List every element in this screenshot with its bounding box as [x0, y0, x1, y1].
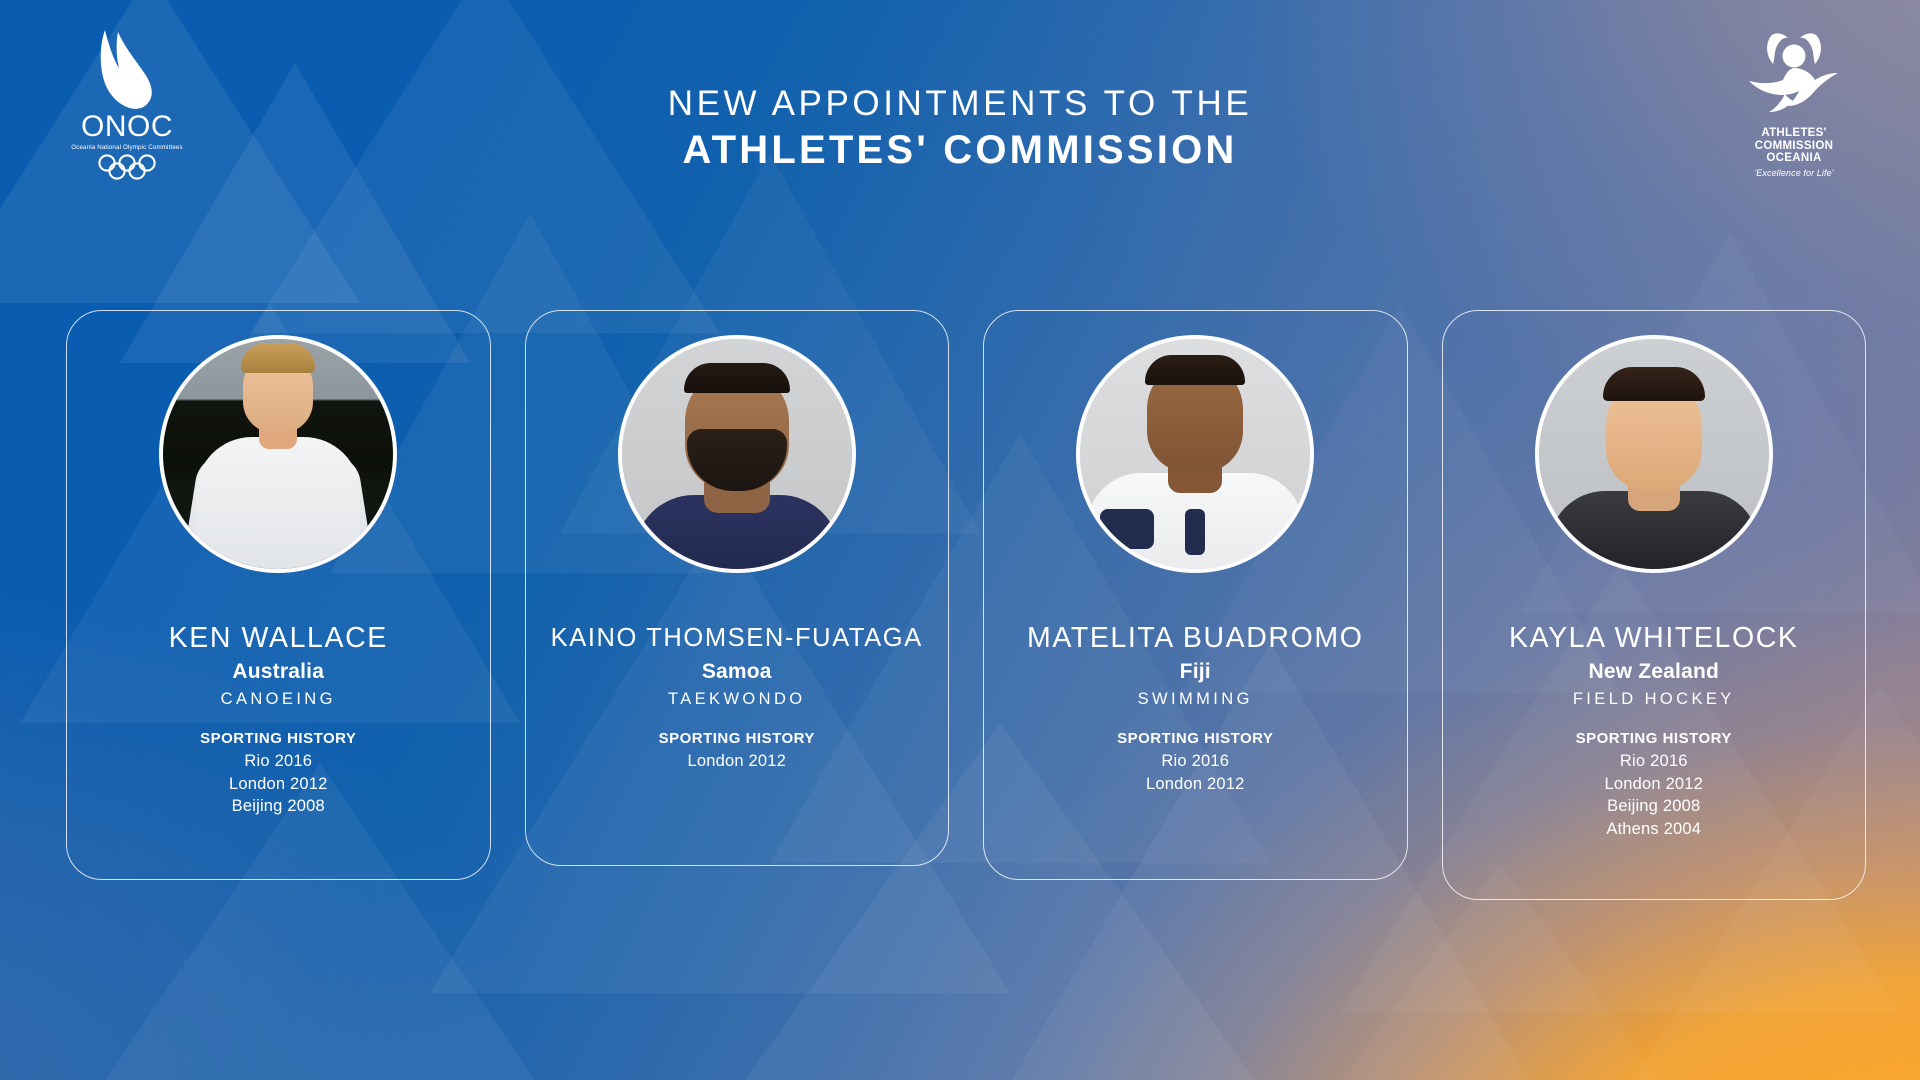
sporting-history-list: Rio 2016London 2012 [1146, 750, 1245, 795]
title-line-2: ATHLETES' COMMISSION [0, 126, 1920, 174]
athlete-card[interactable]: MATELITA BUADROMOFijiSWIMMINGSPORTING HI… [983, 310, 1408, 880]
poster-canvas: ONOC Oceania National Olympic Committees… [0, 0, 1920, 1080]
athlete-card[interactable]: KAINO THOMSEN-FUATAGASamoaTAEKWONDOSPORT… [525, 310, 950, 866]
athlete-card[interactable]: KEN WALLACEAustraliaCANOEINGSPORTING HIS… [66, 310, 491, 880]
athlete-name: KAYLA WHITELOCK [1509, 622, 1799, 654]
sporting-history-item: Rio 2016 [1604, 750, 1703, 773]
portrait-ken-wallace [159, 335, 397, 573]
sporting-history-item: London 2012 [1604, 773, 1703, 796]
athlete-country: Fiji [1180, 660, 1211, 684]
athlete-sport: FIELD HOCKEY [1573, 690, 1735, 709]
portrait-kayla-whitelock [1535, 335, 1773, 573]
athlete-country: New Zealand [1588, 660, 1719, 684]
athlete-sport: SWIMMING [1138, 690, 1253, 709]
sporting-history-label: SPORTING HISTORY [1576, 730, 1732, 748]
sporting-history-label: SPORTING HISTORY [1117, 730, 1273, 748]
sporting-history-item: Athens 2004 [1604, 818, 1703, 841]
portrait-kaino-thomsen-fuataga [618, 335, 856, 573]
title-line-1: NEW APPOINTMENTS TO THE [0, 82, 1920, 126]
page-title: NEW APPOINTMENTS TO THE ATHLETES' COMMIS… [0, 82, 1920, 174]
sporting-history-item: London 2012 [1146, 773, 1245, 796]
sporting-history-item: London 2012 [229, 773, 328, 796]
sporting-history-item: Rio 2016 [1146, 750, 1245, 773]
ac-logo-line-1: ATHLETES' [1755, 127, 1833, 140]
athlete-sport: CANOEING [221, 690, 336, 709]
ac-logo-line-3: OCEANIA [1755, 152, 1833, 165]
sporting-history-item: London 2012 [687, 750, 786, 773]
sporting-history-item: Beijing 2008 [1604, 795, 1703, 818]
sporting-history-label: SPORTING HISTORY [200, 730, 356, 748]
ac-logo-line-2: COMMISSION [1755, 140, 1833, 153]
athlete-country: Australia [232, 660, 324, 684]
ac-logo-tagline: 'Excellence for Life' [1754, 168, 1833, 178]
poster-header: ONOC Oceania National Olympic Committees… [0, 0, 1920, 240]
sporting-history-list: Rio 2016London 2012Beijing 2008 [229, 750, 328, 818]
athlete-name: KEN WALLACE [169, 622, 388, 654]
athlete-figure-icon [1741, 26, 1847, 124]
sporting-history-list: London 2012 [687, 750, 786, 773]
athlete-name: KAINO THOMSEN-FUATAGA [551, 622, 923, 654]
athlete-card-row: KEN WALLACEAustraliaCANOEINGSPORTING HIS… [66, 310, 1866, 900]
athlete-country: Samoa [702, 660, 772, 684]
sporting-history-item: Rio 2016 [229, 750, 328, 773]
athletes-commission-oceania-logo: ATHLETES' COMMISSION OCEANIA 'Excellence… [1728, 26, 1860, 186]
athlete-name: MATELITA BUADROMO [1027, 622, 1364, 654]
athlete-sport: TAEKWONDO [668, 690, 806, 709]
portrait-matelita-buadromo [1076, 335, 1314, 573]
ac-logo-title: ATHLETES' COMMISSION OCEANIA [1755, 127, 1833, 165]
sporting-history-list: Rio 2016London 2012Beijing 2008Athens 20… [1604, 750, 1703, 840]
sporting-history-label: SPORTING HISTORY [659, 730, 815, 748]
athlete-card[interactable]: KAYLA WHITELOCKNew ZealandFIELD HOCKEYSP… [1442, 310, 1867, 900]
sporting-history-item: Beijing 2008 [229, 795, 328, 818]
